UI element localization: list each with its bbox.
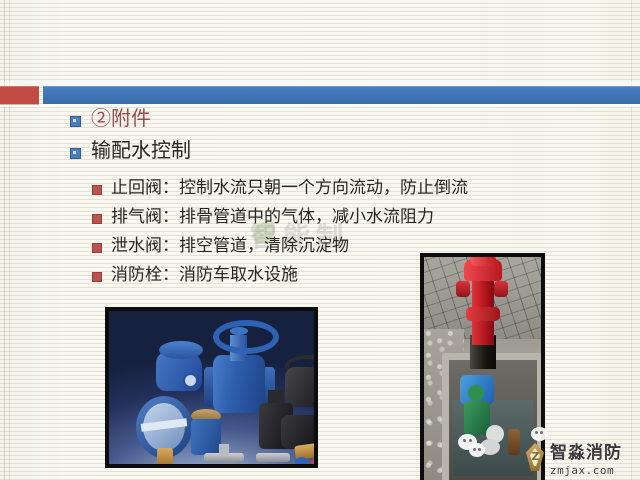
square-bullet-icon bbox=[92, 214, 102, 224]
brass-fitting-a bbox=[157, 448, 173, 466]
gate-valve-handwheel bbox=[213, 320, 279, 354]
valves-photo bbox=[105, 307, 318, 468]
bullet-level1-label: 输配水控制 bbox=[91, 138, 191, 164]
chrome-fitting-c bbox=[256, 453, 290, 462]
slide-canvas: 智能制 ②附件 输配水控制 止回阀：控制水流只朝一个方向流动，防止倒流 排气阀：… bbox=[0, 0, 640, 480]
square-bullet-icon bbox=[70, 148, 81, 159]
bullet-level2-label: 消防栓：消防车取水设施 bbox=[111, 263, 298, 287]
square-bullet-icon bbox=[92, 272, 102, 282]
bullet-level2-label: 泄水阀：排空管道，清除沉淀物 bbox=[111, 234, 349, 258]
blue-handle-cap bbox=[295, 457, 308, 468]
bullet-level2-label: 排气阀：排骨管道中的气体，减小水流阻力 bbox=[111, 205, 434, 229]
gate-valve-body bbox=[213, 355, 265, 413]
square-bullet-icon bbox=[92, 185, 102, 195]
header-red-block bbox=[0, 86, 39, 105]
square-bullet-icon bbox=[70, 116, 81, 127]
square-bullet-icon bbox=[92, 243, 102, 253]
butterfly-valve-top bbox=[159, 341, 203, 359]
hydrant-flange-band bbox=[466, 307, 500, 321]
pit-valve-handwheel bbox=[468, 385, 484, 401]
bullet-level1-water-control: 输配水控制 bbox=[0, 138, 640, 164]
gate-valve-hub bbox=[230, 327, 248, 335]
bullet-level2-label: 止回阀：控制水流只朝一个方向流动，防止倒流 bbox=[111, 176, 468, 200]
chrome-fitting-b-stem bbox=[219, 444, 229, 456]
hydrant-photo bbox=[420, 253, 545, 480]
bullet-level2-check-valve: 止回阀：控制水流只朝一个方向流动，防止倒流 bbox=[0, 176, 640, 200]
red-handle-cap bbox=[311, 457, 318, 468]
valve-pit bbox=[442, 353, 544, 480]
pit-pipe bbox=[508, 429, 520, 455]
header-blue-bar bbox=[43, 86, 640, 104]
small-blue-valve bbox=[191, 419, 221, 455]
bullet-level2-air-valve: 排气阀：排骨管道中的气体，减小水流阻力 bbox=[0, 205, 640, 229]
hydrant-nozzle-left bbox=[456, 281, 470, 297]
black-valve-body-upper bbox=[285, 367, 318, 407]
hydrant-nozzle-right bbox=[494, 281, 508, 297]
bullet-level1-label: ②附件 bbox=[91, 106, 151, 132]
bullet-level1-attachment: ②附件 bbox=[0, 106, 640, 132]
butterfly-valve-indicator bbox=[183, 373, 198, 388]
hydrant-cap bbox=[470, 254, 496, 266]
pit-debris-b bbox=[480, 439, 500, 455]
header-separator-top bbox=[0, 82, 640, 85]
